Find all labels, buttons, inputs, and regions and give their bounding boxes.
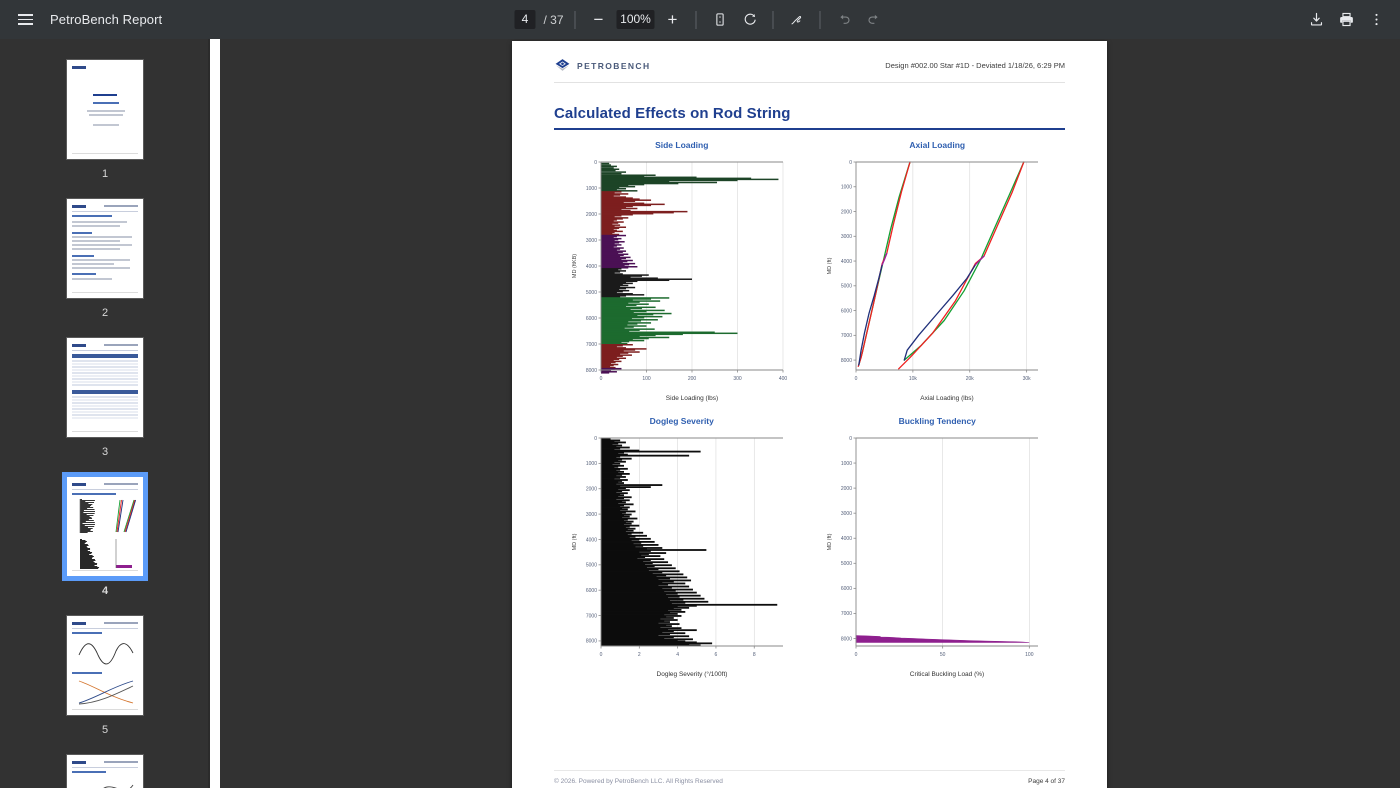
toolbar-divider-4 [820,11,821,29]
svg-text:4: 4 [676,652,679,658]
svg-text:6000: 6000 [586,315,597,321]
chart-title: Buckling Tendency [899,416,976,426]
thumbnail-page-3[interactable]: 3 [66,337,144,458]
svg-text:2000: 2000 [586,486,597,492]
chart-side-loading: Side Loading0100020003000400050006000700… [554,140,810,404]
svg-text:MD (ftKB): MD (ftKB) [572,253,578,277]
chart-canvas: 010002000300040005000600070008000010k20k… [822,154,1052,404]
viewer-scrollbar[interactable] [210,39,220,788]
svg-text:8000: 8000 [586,367,597,373]
svg-text:2000: 2000 [841,486,852,492]
more-vertical-icon [1368,11,1385,28]
undo-icon [836,12,851,27]
svg-text:7000: 7000 [586,341,597,347]
thumbnail-preview-2[interactable] [66,198,144,299]
thumbnail-number-4: 4 [102,585,108,597]
svg-text:0: 0 [855,376,858,382]
redo-button[interactable] [862,8,886,32]
chart-axial-loading: Axial Loading010002000300040005000600070… [810,140,1066,404]
thumbnail-preview-3[interactable] [66,337,144,438]
toolbar-center-controls: 4 / 37 − 100% + [514,0,885,39]
svg-text:0: 0 [849,159,852,165]
thumbnail-preview-6[interactable] [66,754,144,788]
svg-text:Dogleg Severity (°/100ft): Dogleg Severity (°/100ft) [656,670,727,678]
svg-text:5000: 5000 [586,289,597,295]
footer-copyright: © 2026. Powered by PetroBench LLC. All R… [554,778,723,785]
rotate-button[interactable] [738,8,762,32]
svg-text:3000: 3000 [841,511,852,517]
svg-text:300: 300 [733,376,742,382]
svg-text:6000: 6000 [841,586,852,592]
chart-title: Dogleg Severity [650,416,714,426]
svg-text:6000: 6000 [841,308,852,314]
title-underline [554,128,1065,130]
svg-text:MD (ft): MD (ft) [827,533,833,550]
header-divider [554,82,1065,83]
pdf-page-4: PETROBENCH Design #002.00 Star #1D - Dev… [512,41,1107,788]
svg-text:2000: 2000 [841,209,852,215]
svg-text:4000: 4000 [586,537,597,543]
svg-text:100: 100 [1025,652,1034,658]
brand-block: PETROBENCH [554,57,651,74]
brand-name: PETROBENCH [577,61,651,71]
svg-text:4000: 4000 [841,536,852,542]
more-options-button[interactable] [1364,8,1388,32]
redo-icon [866,12,881,27]
chart-dogleg-severity: Dogleg Severity0100020003000400050006000… [554,416,810,680]
svg-text:4000: 4000 [586,263,597,269]
svg-text:7000: 7000 [586,613,597,619]
annotate-button[interactable] [785,8,809,32]
zoom-in-button[interactable]: + [661,8,685,32]
svg-text:20k: 20k [966,376,975,382]
svg-text:2000: 2000 [586,211,597,217]
svg-text:0: 0 [599,652,602,658]
svg-text:0: 0 [849,435,852,441]
chart-buckling-tendency: Buckling Tendency01000200030004000500060… [810,416,1066,680]
pen-annotate-icon [789,12,804,27]
svg-text:3000: 3000 [586,511,597,517]
svg-text:MD (ft): MD (ft) [572,533,578,550]
chart-title: Side Loading [655,140,708,150]
rotate-clockwise-icon [742,12,757,27]
minus-icon: − [594,11,604,28]
thumbnail-preview-5[interactable] [66,615,144,716]
page-footer: © 2026. Powered by PetroBench LLC. All R… [554,770,1065,785]
toolbar-divider-3 [773,11,774,29]
charts-grid: Side Loading0100020003000400050006000700… [554,140,1065,680]
svg-text:8000: 8000 [586,638,597,644]
svg-text:1000: 1000 [841,184,852,190]
pdf-viewer-toolbar: PetroBench Report 4 / 37 − 100% + [0,0,1400,39]
download-icon [1308,11,1325,28]
chart-canvas: 01000200030004000500060007000800002468MD… [567,430,797,680]
svg-text:5000: 5000 [586,562,597,568]
toolbar-divider-2 [696,11,697,29]
thumbnail-number-2: 2 [102,307,108,319]
thumbnail-preview-1[interactable] [66,59,144,160]
svg-text:1000: 1000 [586,185,597,191]
chart-title: Axial Loading [909,140,965,150]
svg-text:30k: 30k [1023,376,1032,382]
thumbnail-number-1: 1 [102,168,108,180]
diamond-logo-icon [554,57,571,74]
svg-text:1000: 1000 [586,461,597,467]
page-title: Calculated Effects on Rod String [554,105,1065,122]
thumbnail-number-5: 5 [102,724,108,736]
svg-text:5000: 5000 [841,283,852,289]
footer-page-number: Page 4 of 37 [1028,778,1065,785]
zoom-out-button[interactable]: − [587,8,611,32]
page-header: PETROBENCH Design #002.00 Star #1D - Dev… [512,41,1107,82]
svg-text:6: 6 [714,652,717,658]
download-button[interactable] [1304,8,1328,32]
svg-text:3000: 3000 [586,237,597,243]
thumbnail-list: 123456 [0,39,210,788]
thumbnail-preview-4[interactable] [66,476,144,577]
hamburger-menu-icon[interactable] [12,7,38,33]
svg-text:100: 100 [642,376,651,382]
thumbnail-page-4[interactable]: 4 [66,476,144,597]
svg-text:Side Loading (lbs): Side Loading (lbs) [666,395,718,402]
thumbnail-page-1[interactable]: 1 [66,59,144,180]
undo-button[interactable] [832,8,856,32]
svg-text:8000: 8000 [841,636,852,642]
thumbnail-number-3: 3 [102,446,108,458]
svg-text:Critical Buckling Load (%): Critical Buckling Load (%) [910,671,984,678]
svg-text:0: 0 [594,159,597,165]
svg-text:50: 50 [940,652,946,658]
svg-text:MD (ft): MD (ft) [827,257,833,274]
fit-page-button[interactable] [708,8,732,32]
svg-text:0: 0 [599,376,602,382]
svg-text:0: 0 [594,435,597,441]
svg-text:8000: 8000 [841,357,852,363]
fit-page-icon [712,12,727,27]
pdf-page-viewer[interactable]: PETROBENCH Design #002.00 Star #1D - Dev… [220,39,1400,788]
svg-text:7000: 7000 [841,333,852,339]
thumbnail-page-2[interactable]: 2 [66,198,144,319]
print-button[interactable] [1334,8,1358,32]
page-number-input[interactable]: 4 [514,10,535,29]
svg-text:7000: 7000 [841,611,852,617]
chart-canvas: 010002000300040005000600070008000050100M… [822,430,1052,680]
print-icon [1338,11,1355,28]
svg-text:5000: 5000 [841,561,852,567]
svg-text:2: 2 [638,652,641,658]
svg-text:1000: 1000 [841,460,852,466]
toolbar-divider-1 [575,11,576,29]
svg-text:200: 200 [688,376,697,382]
svg-text:6000: 6000 [586,588,597,594]
svg-text:3000: 3000 [841,234,852,240]
svg-text:8: 8 [753,652,756,658]
svg-text:Axial Loading (lbs): Axial Loading (lbs) [921,395,974,402]
svg-text:400: 400 [779,376,788,382]
zoom-level-input[interactable]: 100% [617,10,655,29]
svg-text:0: 0 [855,652,858,658]
chart-canvas: 0100020003000400050006000700080000100200… [567,154,797,404]
thumbnail-page-5[interactable]: 5 [66,615,144,736]
page-total-label: / 37 [543,13,563,27]
design-meta-label: Design #002.00 Star #1D - Deviated 1/18/… [885,61,1065,70]
svg-text:10k: 10k [909,376,918,382]
thumbnail-sidebar[interactable]: 123456 [0,39,210,788]
svg-text:4000: 4000 [841,258,852,264]
document-title: PetroBench Report [50,12,162,27]
thumbnail-page-6[interactable]: 6 [66,754,144,788]
plus-icon: + [668,11,678,28]
